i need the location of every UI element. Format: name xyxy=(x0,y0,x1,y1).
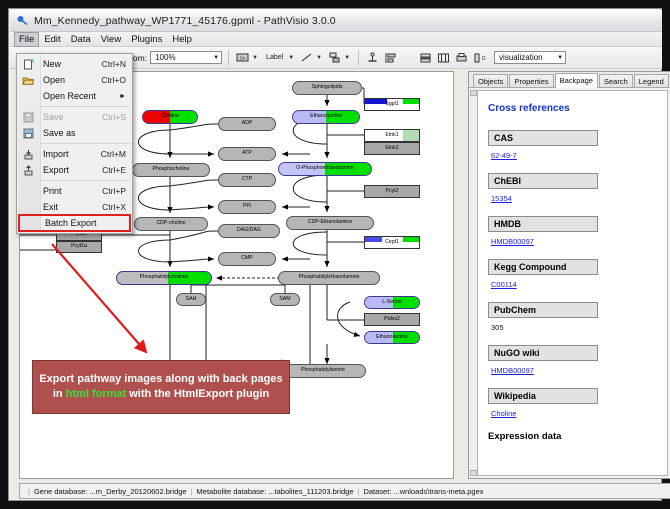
label-dropdown-icon[interactable]: ▼ xyxy=(288,55,294,61)
menu-data[interactable]: Data xyxy=(66,33,96,46)
node-label: Ptdss2 xyxy=(365,317,419,322)
window-title: Mm_Kennedy_pathway_WP1771_45176.gpml - P… xyxy=(34,15,336,27)
xref-value[interactable]: 62-49-7 xyxy=(491,151,659,160)
anchor-icon[interactable] xyxy=(365,50,380,65)
menu-item-open[interactable]: Open Ctrl+O xyxy=(17,72,132,88)
chevron-down-icon-2: ▼ xyxy=(557,55,563,61)
line-icon[interactable] xyxy=(299,50,314,65)
status-divider-1: | xyxy=(191,487,193,496)
scroll-up-button[interactable] xyxy=(470,90,477,96)
xref-link[interactable]: 62-49-7 xyxy=(491,151,517,160)
import-icon xyxy=(17,149,39,160)
node-label: O-Phosphoethanolamine xyxy=(279,166,371,171)
node-label: Sgpl1 xyxy=(365,102,419,107)
menu-help[interactable]: Help xyxy=(167,33,197,46)
svg-text:Gn: Gn xyxy=(240,56,246,61)
node-label: SAH xyxy=(177,297,205,302)
scroll-down-button[interactable] xyxy=(470,470,477,476)
xref-link[interactable]: Choline xyxy=(491,409,516,418)
node-label: Cept1 xyxy=(365,240,419,245)
node-label: Phosphatidylserine xyxy=(281,368,365,373)
new-document-icon xyxy=(17,59,39,70)
metabolite-node[interactable]: Phosphatidylserine xyxy=(280,364,366,378)
menu-item-export-accel: Ctrl+E xyxy=(102,165,132,175)
screenshot-root: Mm_Kennedy_pathway_WP1771_45176.gpml - P… xyxy=(0,0,670,509)
node-label: CMP xyxy=(219,256,275,261)
file-menu-popup[interactable]: New Ctrl+N Open Ctrl+O Open Recent ► Sav… xyxy=(16,53,133,234)
backpage-content: Cross references CAS62-49-7ChEBI15354HMD… xyxy=(477,90,668,476)
node-label: Choline xyxy=(143,114,197,119)
menu-item-new-label: New xyxy=(39,59,102,69)
menu-item-save-as-label: Save as xyxy=(39,128,126,138)
datanode-icon[interactable]: Gn xyxy=(235,50,250,65)
menu-item-print-label: Print xyxy=(39,186,102,196)
datanode-dropdown-icon[interactable]: ▼ xyxy=(252,55,258,61)
menu-item-exit[interactable]: Exit Ctrl+X xyxy=(17,199,132,215)
status-divider-2: | xyxy=(357,487,359,496)
group-icon[interactable] xyxy=(436,50,451,65)
metabolite-node[interactable]: ATP xyxy=(218,147,276,161)
metabolite-node[interactable]: Phosphatidylethanolamine xyxy=(278,271,380,285)
toolbar-separator xyxy=(228,50,229,65)
node-label: Pcyt2 xyxy=(365,189,419,194)
xref-database-label: NuGO wiki xyxy=(488,345,598,361)
menu-item-print-accel: Ctrl+P xyxy=(102,186,132,196)
metabolite-node[interactable]: Sphingolipids xyxy=(292,81,362,95)
gene-node[interactable]: Cept1 xyxy=(364,236,420,249)
open-folder-icon xyxy=(17,75,39,86)
tab-objects[interactable]: Objects xyxy=(473,74,508,87)
xref-link[interactable]: HMDB00097 xyxy=(491,237,534,246)
status-divider-0: | xyxy=(28,487,30,496)
visualization-combobox[interactable]: visualization ▼ xyxy=(494,51,566,64)
gene-node[interactable]: Etnk2 xyxy=(364,142,420,155)
node-label: CDP-Ethanolamine xyxy=(287,220,373,225)
metabolite-node[interactable]: O-Phosphoethanolamine xyxy=(278,162,372,176)
menu-item-new-accel: Ctrl+N xyxy=(102,59,132,69)
callout-arrow xyxy=(48,240,166,368)
xref-link[interactable]: C00114 xyxy=(491,280,517,289)
label-button[interactable]: Label xyxy=(263,52,286,63)
xref-database-label: Wikipedia xyxy=(488,388,598,404)
node-label: CTP xyxy=(219,177,275,182)
visualization-value: visualization xyxy=(499,53,543,62)
menu-item-import-accel: Ctrl+M xyxy=(101,149,132,159)
menu-item-save-as[interactable]: Save as xyxy=(17,125,132,141)
callout-box: Export pathway images along with back pa… xyxy=(32,360,290,414)
save-as-icon xyxy=(17,128,39,139)
menu-bar[interactable]: File Edit Data View Plugins Help xyxy=(10,32,662,47)
xref-value[interactable]: HMDB00097 xyxy=(491,237,659,246)
menu-edit[interactable]: Edit xyxy=(39,33,65,46)
print-icon[interactable] xyxy=(454,50,469,65)
gene-node[interactable]: Pcyt2 xyxy=(364,185,420,198)
menu-item-open-accel: Ctrl+O xyxy=(101,75,132,85)
node-label: ATP xyxy=(219,151,275,156)
node-label: Etnk1 xyxy=(365,133,419,138)
side-panel-tabs[interactable]: Objects Properties Backpage Search Legen… xyxy=(469,72,670,88)
dataset-value: ...wnloads\trans-meta.pgex xyxy=(393,487,483,496)
node-label: CDP-choline xyxy=(135,221,207,226)
metabolite-node[interactable]: CDP-choline xyxy=(134,217,208,231)
xref-value[interactable]: HMDB00097 xyxy=(491,366,659,375)
node-label: Ethanolamine xyxy=(365,335,419,340)
expression-data-heading: Expression data xyxy=(488,431,659,442)
metabolite-node[interactable]: Phosphocholine xyxy=(132,163,210,177)
cross-reference-list: CAS62-49-7ChEBI15354HMDBHMDB00097Kegg Co… xyxy=(488,130,659,418)
node-label: L-Serine xyxy=(365,300,419,305)
tab-properties[interactable]: Properties xyxy=(509,74,553,87)
menu-item-save-label: Save xyxy=(39,112,102,122)
stack-icon[interactable] xyxy=(418,50,433,65)
menu-item-open-recent-label: Open Recent xyxy=(39,91,119,101)
metabolite-node[interactable]: Choline xyxy=(142,110,198,124)
xref-database-label: CAS xyxy=(488,130,598,146)
application-window: Mm_Kennedy_pathway_WP1771_45176.gpml - P… xyxy=(8,8,662,501)
node-label: Phosphatidylethanolamine xyxy=(279,275,379,280)
order-icon[interactable]: D xyxy=(472,50,487,65)
shape-icon[interactable] xyxy=(327,50,342,65)
gene-database-value: ...m_Derby_20120602.bridge xyxy=(89,487,186,496)
node-label: DAG/DAG xyxy=(219,228,279,233)
menu-item-export-label: Export xyxy=(39,165,102,175)
toolbar-separator-2 xyxy=(358,50,359,65)
metabolite-node[interactable]: PPi xyxy=(218,200,276,214)
menu-item-open-label: Open xyxy=(39,75,101,85)
metabolite-database-label: Metabolite database: xyxy=(197,487,267,496)
xref-link[interactable]: 15354 xyxy=(491,194,512,203)
menu-item-export[interactable]: Export Ctrl+E xyxy=(17,162,132,178)
metabolite-node[interactable]: CDP-Ethanolamine xyxy=(286,216,374,230)
metabolite-node[interactable]: SAM xyxy=(270,293,300,306)
cross-references-title: Cross references xyxy=(488,103,659,114)
menu-item-new[interactable]: New Ctrl+N xyxy=(17,56,132,72)
menu-view[interactable]: View xyxy=(96,33,126,46)
menu-separator-2 xyxy=(41,143,130,144)
metabolite-node[interactable]: L-Serine xyxy=(364,296,420,309)
node-label: ADP xyxy=(219,121,275,126)
menu-item-batch-export-label: Batch Export xyxy=(41,218,130,228)
menu-item-save-accel: Ctrl+S xyxy=(102,112,132,122)
menu-item-exit-label: Exit xyxy=(39,202,102,212)
tab-legend[interactable]: Legend xyxy=(634,74,669,87)
menu-item-import[interactable]: Import Ctrl+M xyxy=(17,146,132,162)
menu-separator-3 xyxy=(41,180,130,181)
menu-item-print[interactable]: Print Ctrl+P xyxy=(17,183,132,199)
menu-item-save: Save Ctrl+S xyxy=(17,109,132,125)
metabolite-node[interactable]: DAG/DAG xyxy=(218,224,280,238)
dataset-label: Dataset: xyxy=(363,487,391,496)
node-label: Sphingolipids xyxy=(293,85,361,90)
node-label: Etnk2 xyxy=(365,146,419,151)
callout-text-after: with the HtmlExport plugin xyxy=(126,388,269,400)
gene-database-label: Gene database: xyxy=(34,487,87,496)
xref-value[interactable]: C00114 xyxy=(491,280,659,289)
callout-highlight: html format xyxy=(66,388,127,400)
tab-search[interactable]: Search xyxy=(599,74,633,87)
gene-node[interactable]: Sgpl1 xyxy=(364,98,420,111)
shape-dropdown-icon[interactable]: ▼ xyxy=(344,55,350,61)
node-label: Phosphocholine xyxy=(133,167,209,172)
side-panel[interactable]: Objects Properties Backpage Search Legen… xyxy=(468,71,670,479)
metabolite-node[interactable]: Ethanolamine xyxy=(364,331,420,344)
metabolite-node[interactable]: CTP xyxy=(218,173,276,187)
xref-value[interactable]: Choline xyxy=(491,409,659,418)
save-disk-icon xyxy=(17,112,39,123)
export-icon xyxy=(17,165,39,176)
metabolite-node[interactable]: CMP xyxy=(218,252,276,266)
submenu-arrow-icon: ► xyxy=(119,93,132,100)
xref-value[interactable]: 15354 xyxy=(491,194,659,203)
tab-backpage[interactable]: Backpage xyxy=(555,73,598,88)
align-left-icon[interactable] xyxy=(383,50,398,65)
xref-link[interactable]: HMDB00097 xyxy=(491,366,534,375)
gene-node[interactable]: Etnk1 xyxy=(364,129,420,142)
node-label: Ethanolamine xyxy=(293,114,359,119)
xref-value: 305 xyxy=(491,323,659,332)
gene-node[interactable]: Ptdss2 xyxy=(364,313,420,326)
node-label: SAM xyxy=(271,297,299,302)
menu-item-exit-accel: Ctrl+X xyxy=(102,202,132,212)
xref-database-label: ChEBI xyxy=(488,173,598,189)
menu-file[interactable]: File xyxy=(14,32,39,47)
xref-database-label: Kegg Compound xyxy=(488,259,598,275)
chevron-down-icon: ▼ xyxy=(213,55,219,61)
node-label: PPi xyxy=(219,204,275,209)
pathvisio-app-icon xyxy=(16,14,29,27)
line-dropdown-icon[interactable]: ▼ xyxy=(316,55,322,61)
menu-plugins[interactable]: Plugins xyxy=(126,33,167,46)
menu-item-open-recent[interactable]: Open Recent ► xyxy=(17,88,132,104)
zoom-combobox[interactable]: 100% ▼ xyxy=(150,51,222,64)
svg-text:D: D xyxy=(482,56,486,62)
menu-separator-1 xyxy=(41,106,130,107)
metabolite-node[interactable]: ADP xyxy=(218,117,276,131)
metabolite-node[interactable]: SAH xyxy=(176,293,206,306)
metabolite-database-value: ...tabolites_111203.bridge xyxy=(268,487,353,496)
menu-item-batch-export[interactable]: Batch Export xyxy=(19,215,130,231)
title-bar: Mm_Kennedy_pathway_WP1771_45176.gpml - P… xyxy=(10,10,662,32)
status-bar: | Gene database: ...m_Derby_20120602.bri… xyxy=(19,483,670,499)
zoom-value: 100% xyxy=(155,53,175,62)
xref-database-label: HMDB xyxy=(488,216,598,232)
xref-database-label: PubChem xyxy=(488,302,598,318)
menu-item-import-label: Import xyxy=(39,149,101,159)
metabolite-node[interactable]: Ethanolamine xyxy=(292,110,360,124)
